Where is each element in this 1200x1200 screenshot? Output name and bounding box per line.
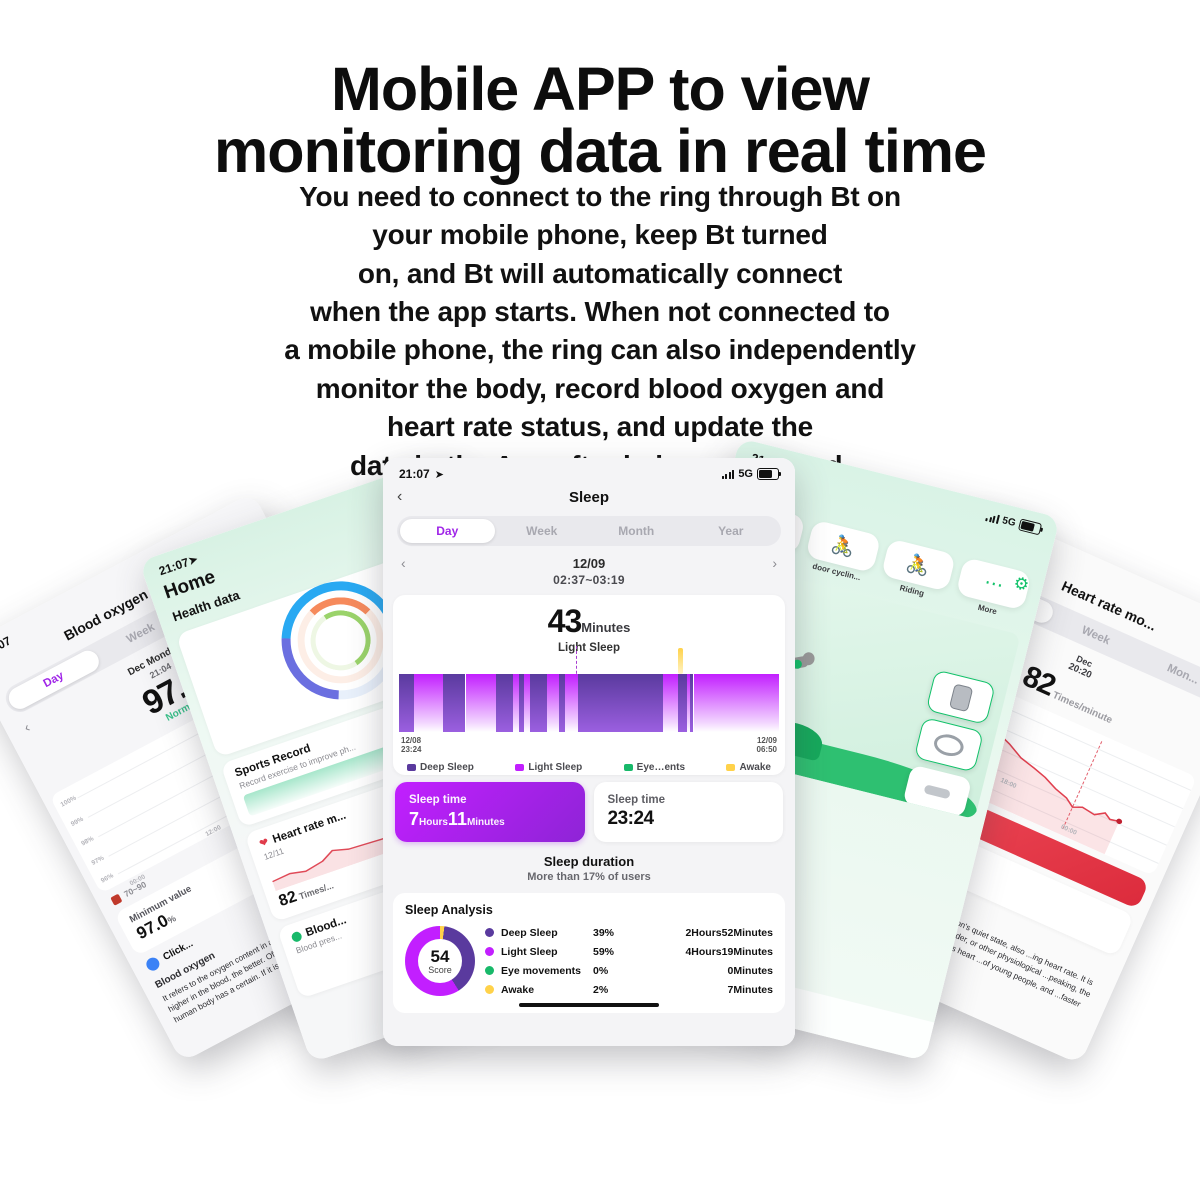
sleep-score-label: Score	[428, 965, 452, 975]
analysis-row: Awake 2% 7Minutes	[485, 980, 773, 999]
legend-item-eye: Eye…ents	[624, 762, 685, 773]
row-name: Deep Sleep	[501, 927, 593, 939]
tab-year[interactable]: Year	[684, 519, 779, 543]
row-pct: 39%	[593, 927, 627, 939]
range-swatch	[110, 893, 122, 905]
row-name: Light Sleep	[501, 946, 593, 958]
sleep-analysis-card: Sleep Analysis 54 Score Deep Sleep	[393, 893, 785, 1013]
deep-sleep-swatch	[407, 764, 416, 771]
subcopy-line: monitor the body, record blood oxygen an…	[150, 370, 1050, 408]
tab-month[interactable]: Month	[589, 519, 684, 543]
device-selector[interactable]	[889, 669, 996, 819]
tab-day[interactable]: Day	[400, 519, 495, 543]
light-sleep-swatch	[515, 764, 524, 771]
sleep-minutes-unit: Minutes	[581, 620, 630, 635]
hypnogram-axis-labels: 12/08 23:24 12/09 06:50	[401, 736, 777, 754]
sleep-stage-label: Light Sleep	[393, 642, 785, 654]
watch-icon	[949, 683, 973, 712]
light-sleep-dot	[485, 947, 494, 956]
analysis-row: Eye movements 0% 0Minutes	[485, 961, 773, 980]
status-time: 21:07	[399, 467, 430, 481]
period-segment-control[interactable]: Day Week Month Year	[397, 516, 781, 546]
nav-bar: ‹ Sleep	[383, 484, 795, 514]
row-duration: 7Minutes	[627, 984, 773, 996]
sleep-total-hours: 7	[409, 809, 419, 829]
signal-icon	[722, 470, 735, 479]
signal-icon	[985, 512, 999, 524]
y-tick: 100%	[60, 795, 78, 809]
page-title-sleep: Sleep	[419, 489, 759, 506]
prev-day-icon[interactable]: ‹	[21, 719, 33, 735]
sleep-total-hours-unit: Hours	[419, 817, 448, 828]
device-band[interactable]	[902, 764, 972, 818]
prev-day-icon[interactable]: ‹	[401, 555, 406, 571]
legend-item-light: Light Sleep	[515, 762, 582, 773]
row-pct: 0%	[593, 965, 627, 977]
time-range-label: 02:37~03:19	[383, 573, 795, 587]
network-label: 5G	[1001, 515, 1017, 529]
sport-item-indoor-cycling[interactable]: 🚴 door cyclin...	[802, 519, 881, 584]
chart-start-time: 23:24	[401, 745, 421, 754]
phone-mockup-fan: 21:07 ‹ Blood oxygen satu... Day Week Mo…	[0, 430, 1200, 1110]
analysis-row: Light Sleep 59% 4Hours19Minutes	[485, 942, 773, 961]
subcopy-line: a mobile phone, the ring can also indepe…	[150, 331, 1050, 369]
sleep-minutes-value: 43	[548, 603, 582, 639]
deep-sleep-dot	[485, 928, 494, 937]
location-arrow-icon: ➤	[435, 468, 444, 481]
ring-icon	[932, 731, 966, 759]
legend-label: Deep Sleep	[420, 762, 474, 773]
y-tick: 98%	[80, 835, 95, 847]
heart-icon: ❤	[257, 835, 270, 850]
home-indicator	[519, 1003, 659, 1007]
sleep-total-minutes-unit: Minutes	[467, 817, 505, 828]
sleep-start-card[interactable]: Sleep time 23:24	[594, 782, 784, 842]
legend-item-awake: Awake	[726, 762, 771, 773]
next-day-icon[interactable]: ›	[772, 555, 777, 571]
y-tick: 96%	[100, 872, 115, 884]
awake-dot	[485, 985, 494, 994]
y-tick: 99%	[70, 816, 85, 828]
device-ring[interactable]	[914, 717, 984, 773]
sleep-total-title: Sleep time	[409, 794, 571, 806]
row-name: Awake	[501, 984, 593, 996]
chart-end-date: 12/09	[757, 736, 777, 745]
analysis-row: Deep Sleep 39% 2Hours52Minutes	[485, 923, 773, 942]
headline-metric: 43Minutes	[393, 595, 785, 640]
row-name: Eye movements	[501, 965, 593, 977]
status-bar: 21:07 ➤ 5G	[383, 458, 795, 484]
awake-swatch	[726, 764, 735, 771]
row-duration: 4Hours19Minutes	[627, 946, 773, 958]
sleep-duration-block: Sleep duration More than 17% of users	[383, 854, 795, 883]
hypnogram-bars	[399, 674, 779, 732]
headline-line-2: monitoring data in real time	[60, 120, 1140, 182]
eye-movement-swatch	[624, 764, 633, 771]
headline-line-1: Mobile APP to view	[331, 55, 869, 123]
network-label: 5G	[738, 468, 753, 480]
row-duration: 2Hours52Minutes	[627, 927, 773, 939]
legend-label: Light Sleep	[528, 762, 582, 773]
sleep-total-minutes: 11	[448, 809, 467, 829]
battery-icon	[1018, 518, 1042, 535]
tab-week[interactable]: Week	[495, 519, 590, 543]
subcopy-line: your mobile phone, keep Bt turned	[150, 216, 1050, 254]
date-navigator[interactable]: ‹ 12/09 ›	[383, 546, 795, 571]
heart-rate-value: 82	[277, 888, 299, 910]
sleep-score-donut: 54 Score	[405, 926, 475, 996]
sport-item-riding[interactable]: 🚴 Riding	[878, 538, 957, 603]
chart-end-time: 06:50	[757, 745, 777, 754]
legend-item-deep: Deep Sleep	[407, 762, 474, 773]
device-watch[interactable]	[926, 669, 996, 725]
band-icon	[924, 784, 951, 799]
chart-start-date: 12/08	[401, 736, 421, 745]
awake-marker	[678, 648, 683, 674]
phone-sleep-main: 21:07 ➤ 5G ‹ Sleep Day Week M	[383, 458, 795, 1046]
sleep-total-card[interactable]: Sleep time 7Hours11Minutes	[395, 782, 585, 842]
sleep-summary-cards: Sleep time 7Hours11Minutes Sleep time 23…	[395, 782, 783, 842]
legend-label: Awake	[739, 762, 771, 773]
sleep-duration-subtitle: More than 17% of users	[383, 871, 795, 883]
blood-icon	[290, 930, 303, 943]
row-duration: 0Minutes	[627, 965, 773, 977]
subcopy-line: You need to connect to the ring through …	[150, 178, 1050, 216]
poster-canvas: Mobile APP to view monitoring data in re…	[0, 0, 1200, 1200]
row-pct: 59%	[593, 946, 627, 958]
sleep-start-value: 23:24	[608, 808, 770, 830]
hypnogram-legend: Deep Sleep Light Sleep Eye…ents Awake	[393, 754, 785, 775]
legend-label: Eye…ents	[637, 762, 685, 773]
hypnogram-chart: 12/08 23:24 12/09 06:50	[399, 660, 779, 754]
sleep-analysis-rows: Deep Sleep 39% 2Hours52Minutes Light Sle…	[485, 923, 773, 999]
current-date: 12/09	[573, 556, 606, 571]
subcopy-line: when the app starts. When not connected …	[150, 293, 1050, 331]
y-tick: 97%	[91, 855, 106, 867]
eye-movement-dot	[485, 966, 494, 975]
sleep-start-title: Sleep time	[608, 794, 770, 806]
battery-icon	[757, 468, 779, 480]
row-pct: 2%	[593, 984, 627, 996]
hypnogram-card: 43Minutes Light Sleep	[393, 595, 785, 775]
sleep-score-value: 54	[431, 948, 450, 965]
back-icon[interactable]: ‹	[397, 488, 419, 506]
subcopy-line: on, and Bt will automatically connect	[150, 255, 1050, 293]
page-title: Mobile APP to view monitoring data in re…	[0, 58, 1200, 182]
sleep-analysis-title: Sleep Analysis	[405, 903, 773, 917]
sleep-duration-title: Sleep duration	[383, 854, 795, 869]
heart-rate-unit: Times/...	[298, 880, 335, 901]
